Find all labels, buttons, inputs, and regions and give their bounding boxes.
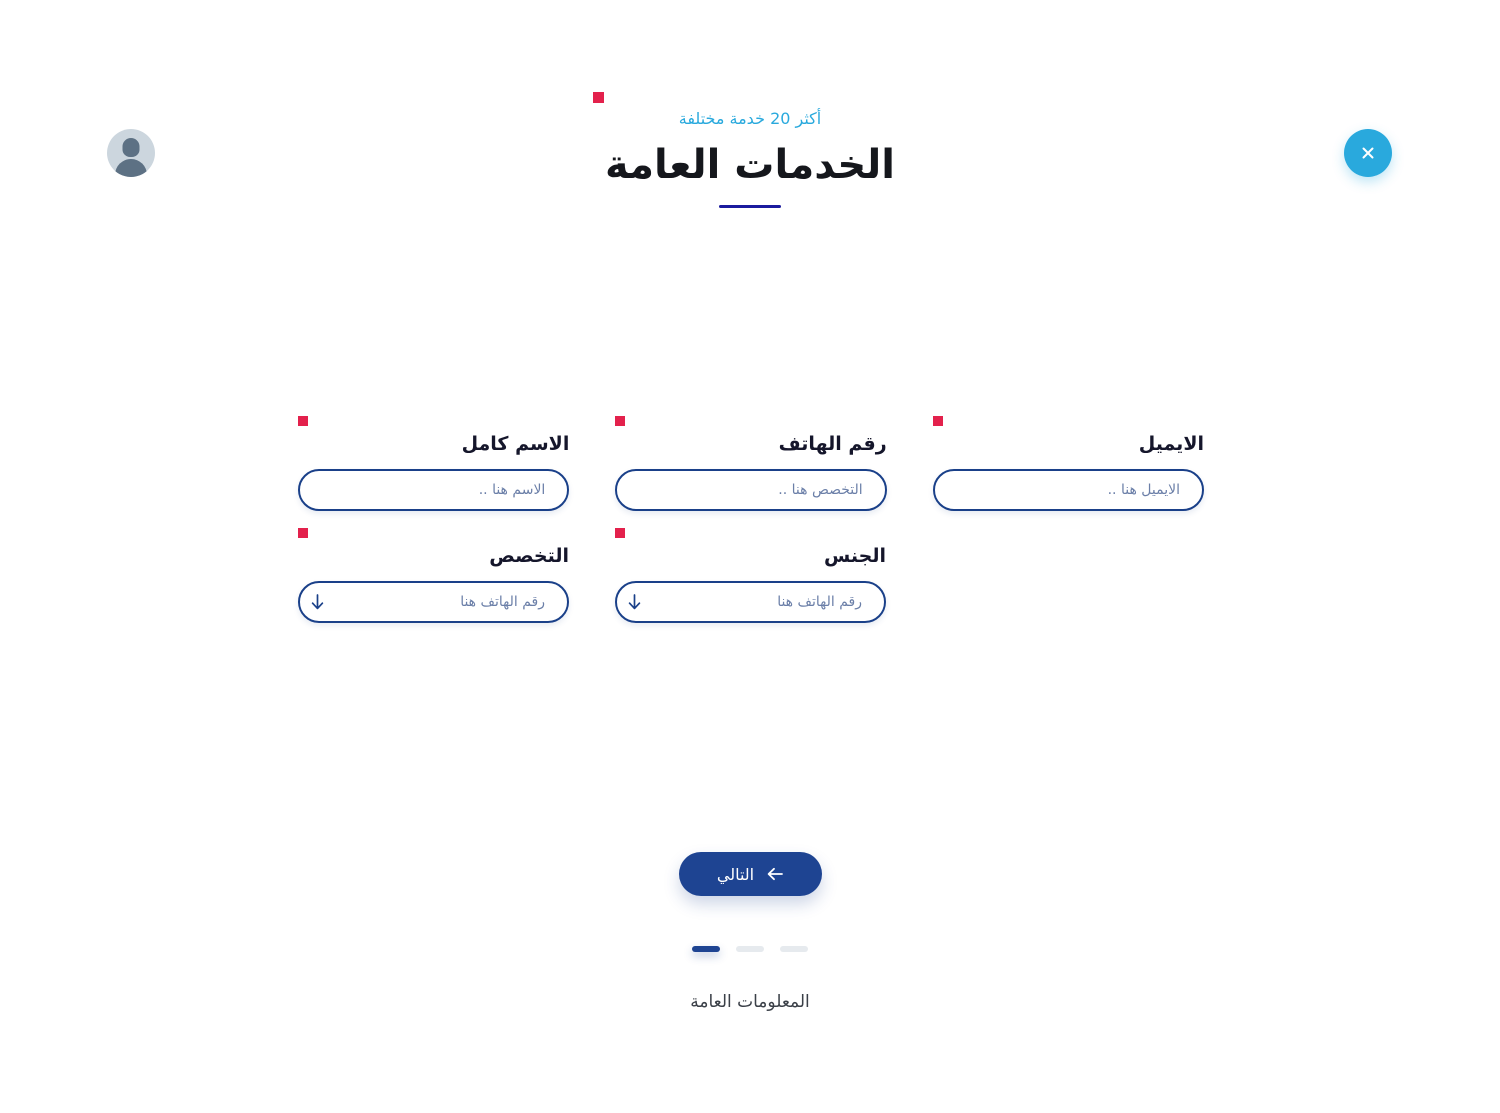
input-wrapper-full-name[interactable] <box>298 469 569 511</box>
step-dash-3[interactable] <box>780 946 808 952</box>
phone-number-input[interactable] <box>617 471 884 509</box>
required-marker-square <box>298 528 308 538</box>
title-underline <box>719 205 781 208</box>
field-label-email: الايميل <box>933 430 1204 458</box>
next-button[interactable]: التالي <box>679 852 822 896</box>
field-label-full-name: الاسم كامل <box>298 430 569 458</box>
field-label-specialty: التخصص <box>298 542 569 570</box>
select-wrapper-gender[interactable] <box>615 581 886 623</box>
field-label-gender: الجنس <box>615 542 886 570</box>
field-gender: الجنس <box>615 526 886 623</box>
step-dash-1[interactable] <box>692 946 720 952</box>
specialty-select[interactable] <box>334 583 567 621</box>
required-marker-square <box>933 416 943 426</box>
full-name-input[interactable] <box>300 471 567 509</box>
gender-select[interactable] <box>651 583 884 621</box>
select-wrapper-specialty[interactable] <box>298 581 569 623</box>
form-row-2: التخصص الجنس <box>298 526 1204 623</box>
field-label-phone-number: رقم الهاتف <box>615 430 886 458</box>
form-row-1: الاسم كامل رقم الهاتف الايميل <box>298 414 1204 511</box>
arrow-left-icon <box>766 867 784 881</box>
step-dash-2[interactable] <box>736 946 764 952</box>
header-marker-square <box>593 92 604 103</box>
registration-form-page: أكثر 20 خدمة مختلفة الخدمات العامة الاسم… <box>0 0 1500 1113</box>
required-marker-square <box>615 528 625 538</box>
page-subtitle: أكثر 20 خدمة مختلفة <box>605 108 895 130</box>
email-input[interactable] <box>935 471 1202 509</box>
field-full-name: الاسم كامل <box>298 414 569 511</box>
field-specialty: التخصص <box>298 526 569 623</box>
field-phone-number: رقم الهاتف <box>615 414 886 511</box>
input-wrapper-email[interactable] <box>933 469 1204 511</box>
required-marker-square <box>298 416 308 426</box>
field-email: الايميل <box>933 414 1204 511</box>
arrow-down-icon[interactable] <box>617 583 651 621</box>
arrow-down-icon[interactable] <box>300 583 334 621</box>
required-marker-square <box>615 416 625 426</box>
page-title: الخدمات العامة <box>605 138 895 192</box>
page-header: أكثر 20 خدمة مختلفة الخدمات العامة <box>0 108 1500 208</box>
next-button-label: التالي <box>717 865 754 884</box>
step-caption: المعلومات العامة <box>0 989 1500 1015</box>
form-row-spacer <box>932 526 1204 623</box>
step-indicator <box>0 946 1500 952</box>
input-wrapper-phone-number[interactable] <box>615 469 886 511</box>
general-information-form: الاسم كامل رقم الهاتف الايميل <box>298 414 1204 623</box>
